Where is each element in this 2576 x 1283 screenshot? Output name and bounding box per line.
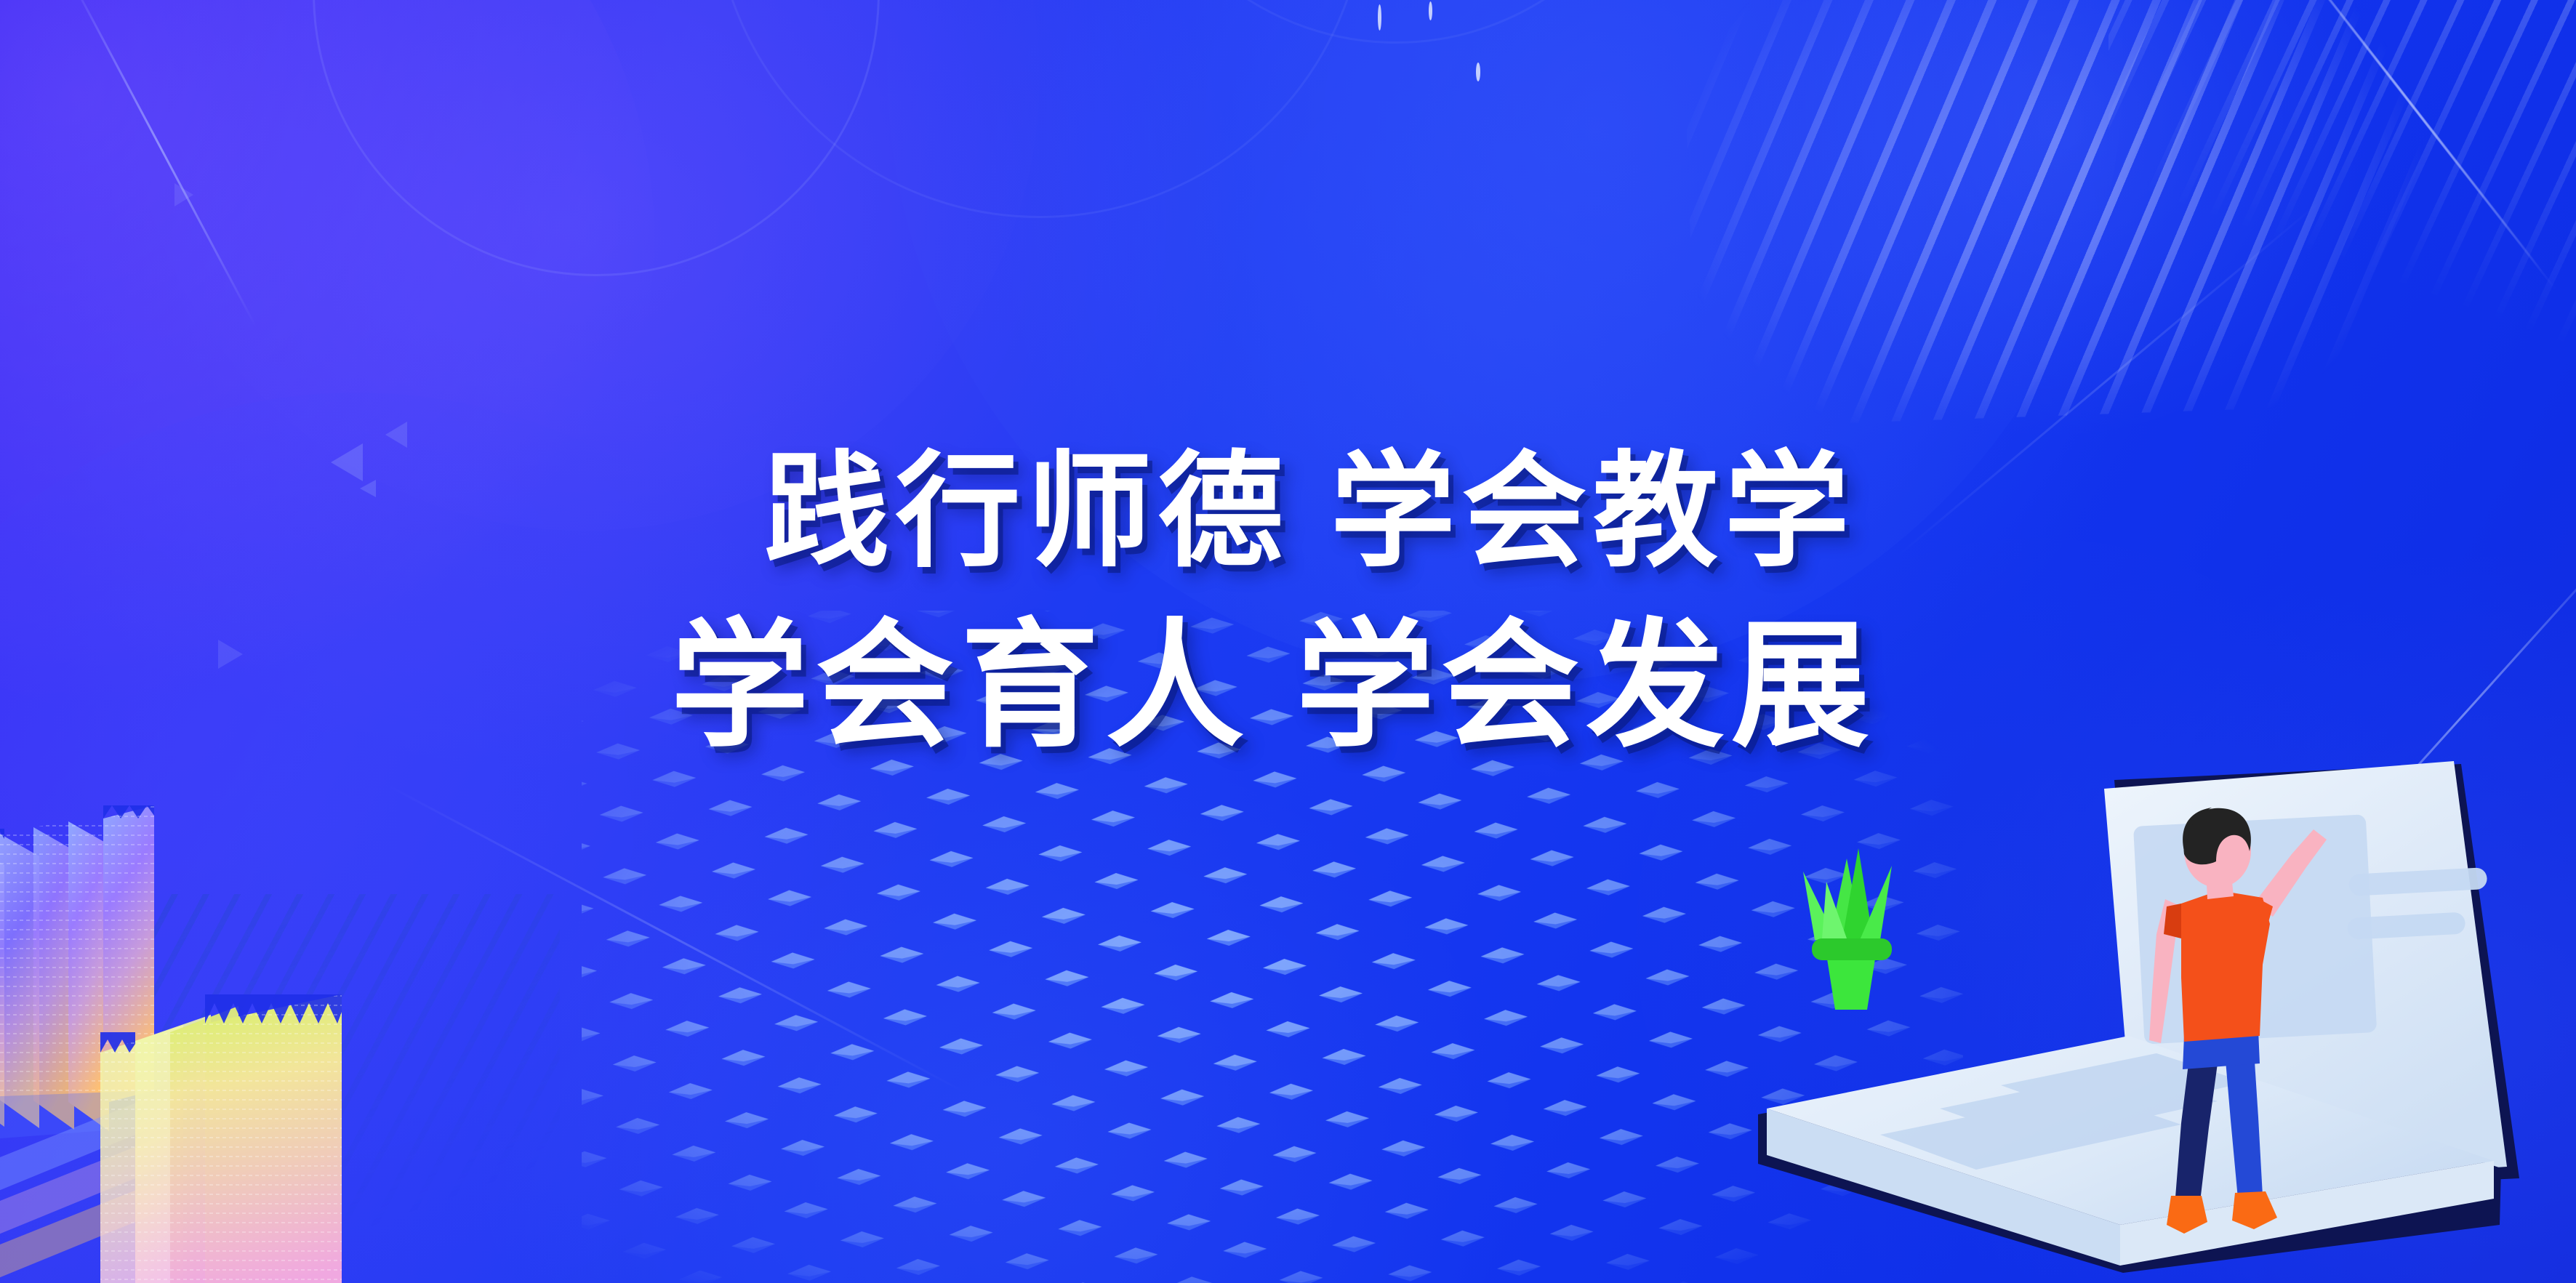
education-banner: 践行师德 学会教学 学会育人 学会发展: [0, 0, 2576, 1283]
glint-dot-3: [1476, 63, 1480, 81]
headline-line-1: 践行师德 学会教学: [0, 447, 2576, 577]
translucent-triangle-2: [385, 422, 407, 448]
soft-circle-overlay-7: [451, 712, 1541, 1283]
person-at-open-laptop-illustration: [1745, 716, 2576, 1283]
glint-dot-1: [1378, 4, 1381, 31]
headline-line-2: 学会育人 学会发展: [0, 615, 2576, 759]
light-streak-line-4: [63, 0, 257, 326]
gradient-towers-decoration: [0, 785, 371, 1283]
ring-outline-2: [713, 0, 1367, 218]
diagonal-hatch-stripes-far-right: [2108, 0, 2576, 363]
translucent-triangle-5: [174, 183, 193, 206]
headline-block: 践行师德 学会教学 学会育人 学会发展: [0, 447, 2576, 758]
diagonal-hatch-stripes-top-right: [1677, 0, 2511, 428]
plant-pot-rim: [1812, 938, 1892, 960]
soft-circle-overlay-5: [1730, 0, 2385, 451]
light-streak-line-5: [387, 784, 966, 1093]
ring-outline-1: [313, 0, 880, 276]
ring-outline-3: [1120, 0, 1672, 44]
potted-plant: [1803, 848, 1892, 1010]
plant-pot: [1826, 954, 1876, 1010]
glint-dot-2: [1429, 1, 1432, 20]
light-streak-line-1: [2255, 0, 2543, 273]
light-streak-line-2: [2286, 0, 2556, 290]
